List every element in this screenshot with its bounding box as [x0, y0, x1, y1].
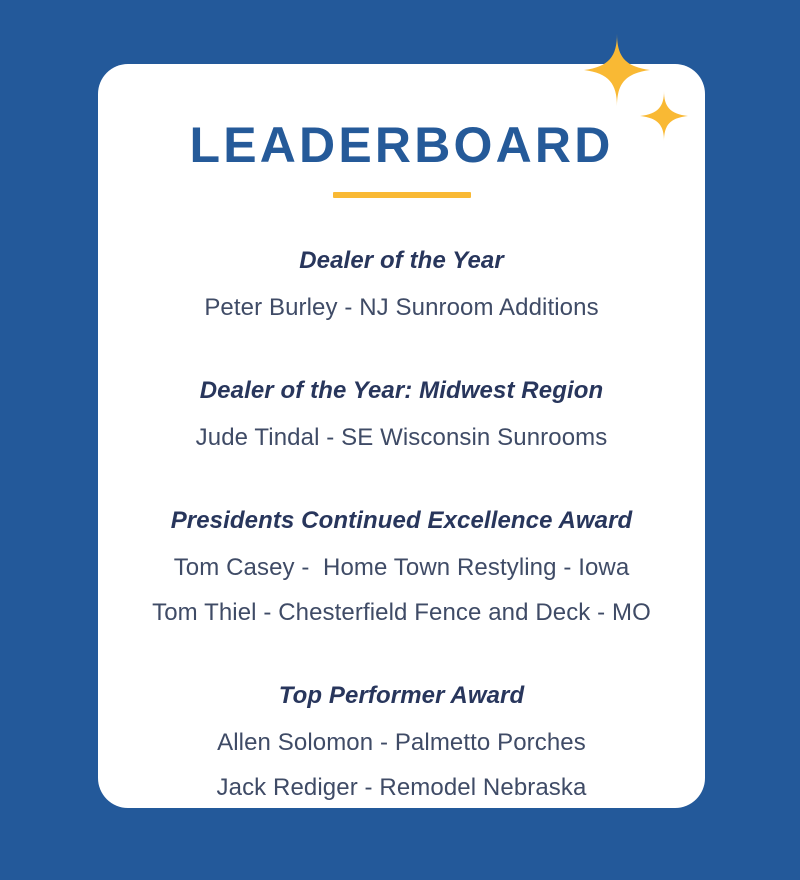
award-group: Dealer of the Year Peter Burley - NJ Sun… — [124, 244, 679, 330]
award-category-title: Presidents Continued Excellence Award — [124, 504, 679, 539]
title-underline-rule — [333, 192, 471, 198]
award-winner: Allen Solomon - Palmetto Porches — [124, 720, 679, 765]
leaderboard-card: LEADERBOARD Dealer of the Year Peter Bur… — [98, 64, 705, 808]
award-list: Dealer of the Year Peter Burley - NJ Sun… — [98, 244, 705, 808]
award-winner: Tom Thiel - Chesterfield Fence and Deck … — [124, 590, 679, 635]
card-header: LEADERBOARD — [98, 64, 705, 198]
award-category-title: Dealer of the Year — [124, 244, 679, 279]
award-category-title: Top Performer Award — [124, 679, 679, 714]
leaderboard-poster: LEADERBOARD Dealer of the Year Peter Bur… — [0, 0, 800, 880]
award-winner: Tom Casey - Home Town Restyling - Iowa — [124, 545, 679, 590]
page-title: LEADERBOARD — [98, 120, 705, 170]
award-group: Presidents Continued Excellence Award To… — [124, 504, 679, 635]
award-category-title: Dealer of the Year: Midwest Region — [124, 374, 679, 409]
award-winner: Peter Burley - NJ Sunroom Additions — [124, 285, 679, 330]
award-group: Dealer of the Year: Midwest Region Jude … — [124, 374, 679, 460]
award-winner: Jack Rediger - Remodel Nebraska — [124, 765, 679, 808]
award-winner: Jude Tindal - SE Wisconsin Sunrooms — [124, 415, 679, 460]
award-group: Top Performer Award Allen Solomon - Palm… — [124, 679, 679, 808]
